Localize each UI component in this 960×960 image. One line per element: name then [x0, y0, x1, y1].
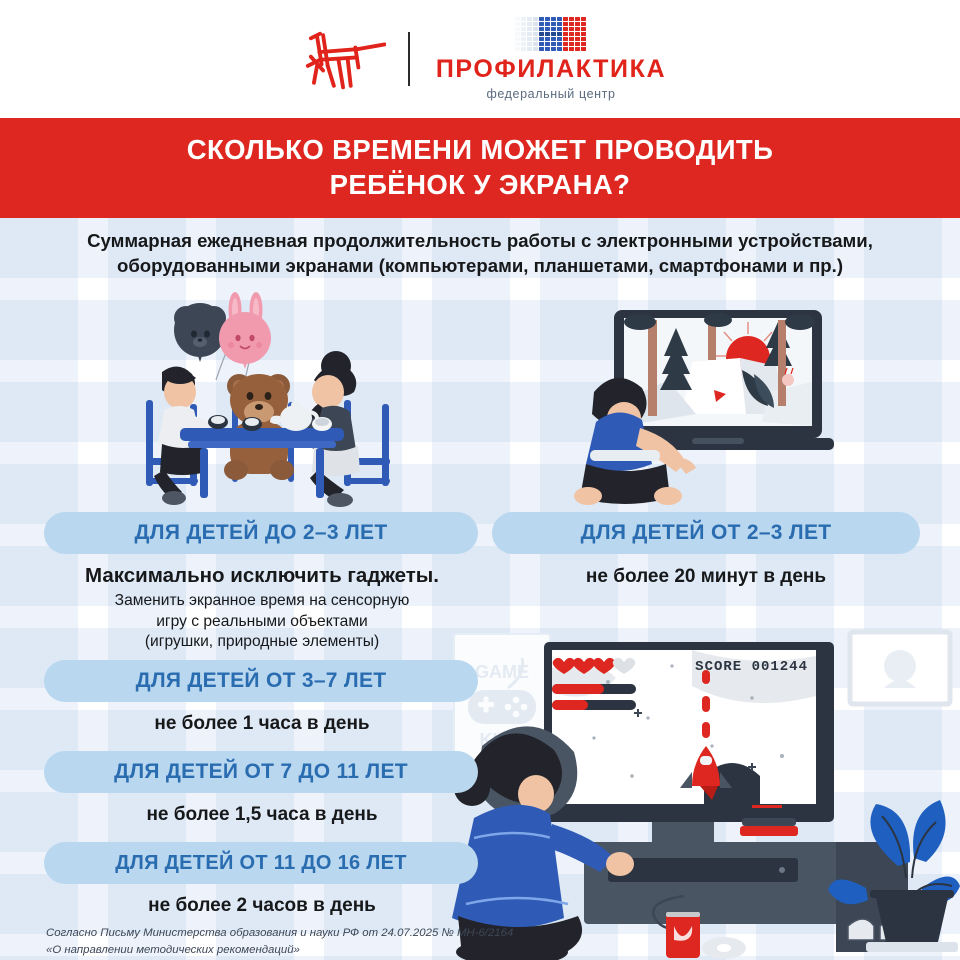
age-band-caption-3-7: не более 1 часа в день [34, 713, 490, 735]
caption-sub-lines: Заменить экранное время на сенсорную игр… [34, 591, 490, 653]
intro-paragraph: Суммарная ежедневная продолжительность р… [0, 228, 960, 279]
age-band-pill-7-11[interactable]: ДЛЯ ДЕТЕЙ ОТ 7 ДО 11 ЛЕТ [44, 751, 478, 793]
child-watching-laptop-illustration [572, 296, 880, 512]
age-band-caption-from-2-3: не более 20 минут в день [492, 566, 920, 588]
page-title-line-2: РЕБЁНОК У ЭКРАНА? [330, 169, 631, 200]
intro-line-2: оборудованными экранами (компьютерами, п… [117, 255, 843, 276]
brand-block: ПРОФИЛАКТИКА федеральный центр [436, 17, 666, 101]
age-band-caption-under-2-3: Максимально исключить гаджеты. Заменить … [34, 563, 490, 653]
caption-sub-line-3: (игрушки, природные элементы) [145, 633, 379, 650]
page-title: СКОЛЬКО ВРЕМЕНИ МОЖЕТ ПРОВОДИТЬ РЕБЁНОК … [187, 133, 774, 202]
chair-sketch-logo-icon [294, 26, 386, 92]
intro-line-1: Суммарная ежедневная продолжительность р… [87, 230, 873, 251]
age-band-pill-11-16[interactable]: ДЛЯ ДЕТЕЙ ОТ 11 ДО 16 ЛЕТ [44, 842, 478, 884]
tea-party-art [118, 288, 428, 516]
brand-subtitle: федеральный центр [486, 87, 615, 101]
source-footnote: Согласно Письму Министерства образования… [46, 925, 586, 958]
logo-bar: ПРОФИЛАКТИКА федеральный центр [0, 0, 960, 118]
gaming-scene-art: GAME KING [452, 626, 960, 960]
brand-grid-icon [515, 17, 586, 51]
logo-divider [408, 32, 410, 86]
infographic-poster: ПРОФИЛАКТИКА федеральный центр СКОЛЬКО В… [0, 0, 960, 960]
child-playing-console-illustration: GAME KING [452, 626, 960, 960]
age-band-pill-3-7[interactable]: ДЛЯ ДЕТЕЙ ОТ 3–7 ЛЕТ [44, 660, 478, 702]
title-banner: СКОЛЬКО ВРЕМЕНИ МОЖЕТ ПРОВОДИТЬ РЕБЁНОК … [0, 118, 960, 218]
caption-main-line: Максимально исключить гаджеты. [34, 563, 490, 588]
age-band-caption-7-11: не более 1,5 часа в день [34, 804, 490, 826]
laptop-scene-art [572, 296, 880, 512]
caption-sub-line-1: Заменить экранное время на сенсорную [115, 592, 410, 609]
page-title-line-1: СКОЛЬКО ВРЕМЕНИ МОЖЕТ ПРОВОДИТЬ [187, 134, 774, 165]
brand-name: ПРОФИЛАКТИКА [436, 57, 666, 82]
age-band-pill-under-2-3[interactable]: ДЛЯ ДЕТЕЙ ДО 2–3 ЛЕТ [44, 512, 478, 554]
footnote-line-1: Согласно Письму Министерства образования… [46, 927, 513, 939]
age-band-caption-11-16: не более 2 часов в день [34, 895, 490, 917]
footnote-line-2: «О направлении методических рекомендаций… [46, 944, 300, 956]
game-score-text: SCORE 001244 [695, 659, 808, 675]
caption-sub-line-2: игру с реальными объектами [156, 613, 368, 630]
children-tea-party-illustration [118, 288, 428, 516]
age-band-pill-from-2-3[interactable]: ДЛЯ ДЕТЕЙ ОТ 2–3 ЛЕТ [492, 512, 920, 554]
